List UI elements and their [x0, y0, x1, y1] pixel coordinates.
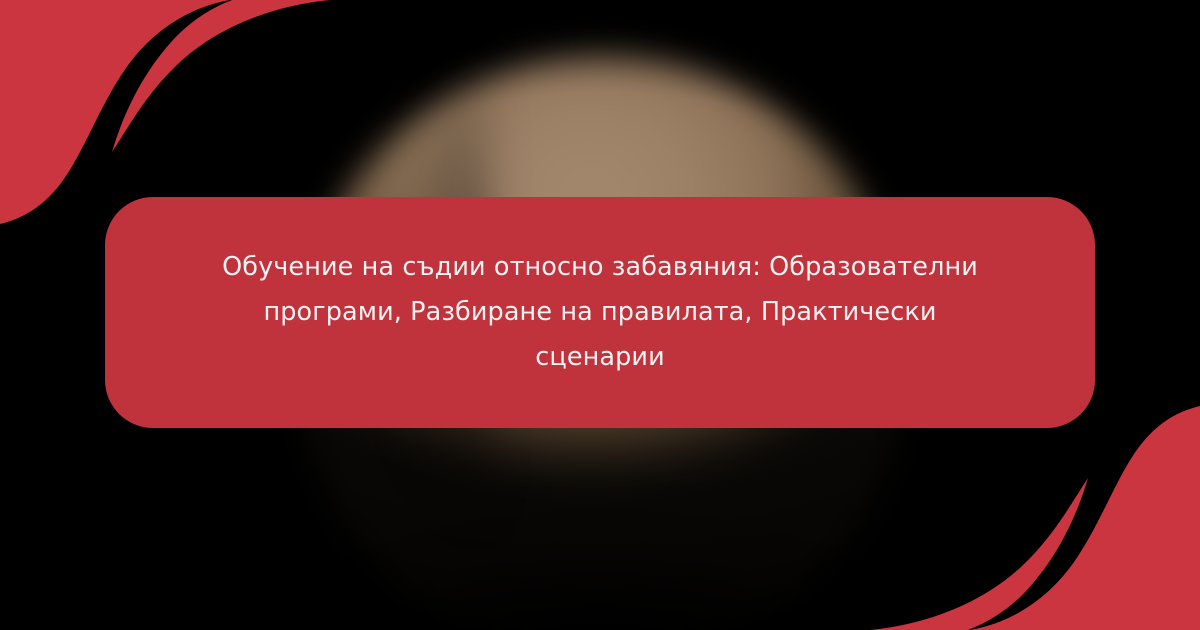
share-card: Обучение на съдии относно забавяния: Обр…: [0, 0, 1200, 630]
title-banner: Обучение на съдии относно забавяния: Обр…: [105, 197, 1095, 428]
page-title: Обучение на съдии относно забавяния: Обр…: [220, 245, 980, 380]
